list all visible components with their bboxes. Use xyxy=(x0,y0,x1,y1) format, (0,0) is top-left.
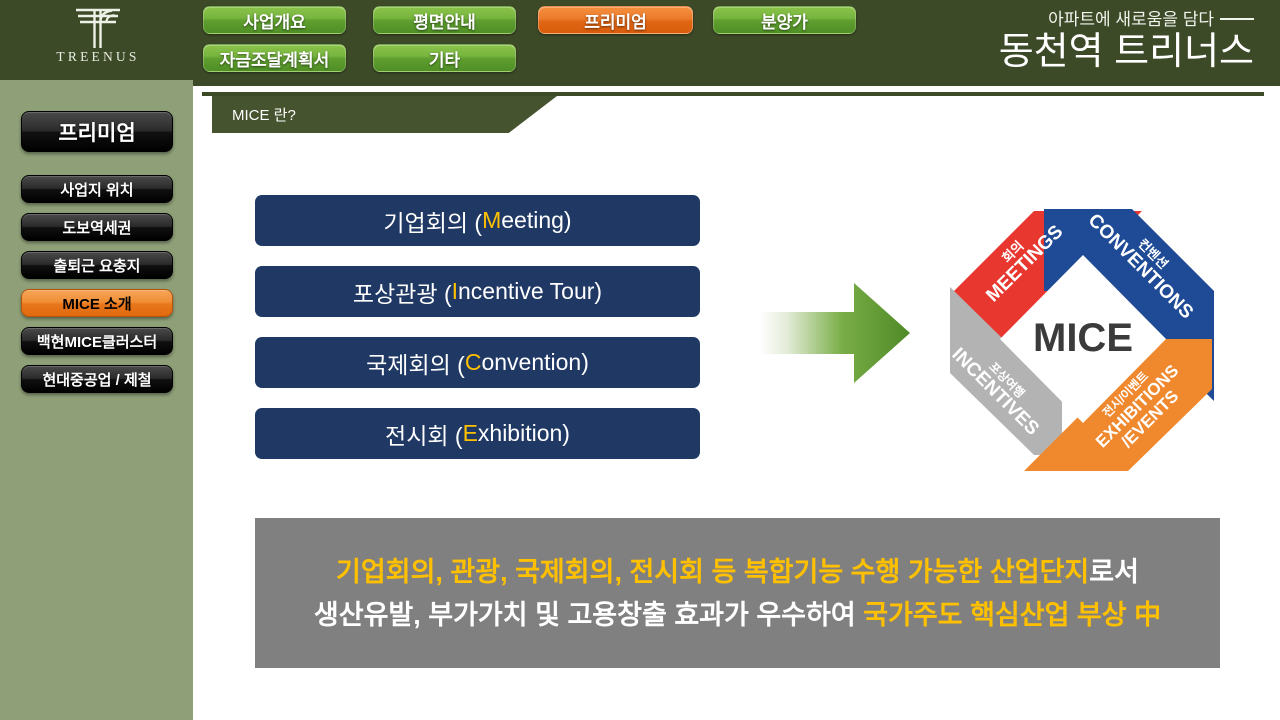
definition-box-meeting: 기업회의 (Meeting) xyxy=(255,195,700,246)
sidebar-item-baekhyeon-mice-cluster[interactable]: 백현MICE클러스터 xyxy=(21,327,173,355)
definition-korean: 국제회의 ( xyxy=(366,346,465,380)
nav-button-premium[interactable]: 프리미엄 xyxy=(538,6,693,34)
summary-line-1-white: 로서 xyxy=(1089,557,1139,587)
diagram-center-label: MICE xyxy=(1033,316,1133,360)
presentation-slide: TREENUS 사업개요 평면안내 프리미엄 분양가 자금조달계획서 기타 아파… xyxy=(0,0,1280,720)
definition-korean: 전시회 ( xyxy=(385,417,463,451)
sidebar-item-hyundai-heavy-steel[interactable]: 현대중공업 / 제철 xyxy=(21,365,173,393)
tagline-dash-icon xyxy=(1220,18,1254,20)
definition-highlight-letter: M xyxy=(482,207,501,234)
brand-tagline: 아파트에 새로움을 담다 xyxy=(999,5,1254,30)
summary-line-2-gold: 국가주도 핵심산업 부상 中 xyxy=(863,600,1161,630)
treenus-tree-logo-icon xyxy=(69,6,127,50)
content-second-rule xyxy=(202,92,1264,96)
sidebar-item-site-location[interactable]: 사업지 위치 xyxy=(21,175,173,203)
brand-title: 동천역 트리너스 xyxy=(999,31,1254,73)
definition-rest: onvention) xyxy=(481,349,588,376)
left-sidebar: 프리미엄 사업지 위치 도보역세권 출퇴근 요충지 MICE 소개 백현MICE… xyxy=(0,80,193,720)
nav-button-etc[interactable]: 기타 xyxy=(373,44,516,72)
sidebar-item-walking-station-area[interactable]: 도보역세권 xyxy=(21,213,173,241)
definition-box-exhibition: 전시회 (Exhibition) xyxy=(255,408,700,459)
nav-button-business-overview[interactable]: 사업개요 xyxy=(203,6,346,34)
top-header-bar: TREENUS 사업개요 평면안내 프리미엄 분양가 자금조달계획서 기타 아파… xyxy=(0,0,1280,80)
summary-line-2-white: 생산유발, 부가가치 및 고용창출 효과가 우수하여 xyxy=(314,600,863,630)
definition-korean: 기업회의 ( xyxy=(383,204,482,238)
nav-button-floor-plan[interactable]: 평면안내 xyxy=(373,6,516,34)
definition-rest: eeting) xyxy=(501,207,571,234)
definition-box-convention: 국제회의 (Convention) xyxy=(255,337,700,388)
content-top-rule xyxy=(193,80,1280,86)
definition-rest: xhibition) xyxy=(478,420,570,447)
mice-octagon-diagram: 회의 MEETINGS 컨벤션 CONVENTIONS 포상여행 INCENTI… xyxy=(938,193,1228,478)
definition-rest: ncentive Tour) xyxy=(458,278,602,305)
definition-box-incentive-tour: 포상관광 (Incentive Tour) xyxy=(255,266,700,317)
sidebar-item-commute-hub[interactable]: 출퇴근 요충지 xyxy=(21,251,173,279)
summary-line-1: 기업회의, 관광, 국제회의, 전시회 등 복합기능 수행 가능한 산업단지로서 xyxy=(336,553,1139,591)
summary-line-1-gold: 기업회의, 관광, 국제회의, 전시회 등 복합기능 수행 가능한 산업단지 xyxy=(336,557,1089,587)
logo-wordmark: TREENUS xyxy=(56,49,139,65)
content-title-tab: MICE 란? xyxy=(212,96,557,133)
main-content-area: MICE 란? 기업회의 (Meeting) 포상관광 (Incentive T… xyxy=(193,80,1280,720)
nav-button-price[interactable]: 분양가 xyxy=(713,6,856,34)
nav-button-funding-plan[interactable]: 자금조달계획서 xyxy=(203,44,346,72)
sidebar-item-mice-intro[interactable]: MICE 소개 xyxy=(21,289,173,317)
definition-highlight-letter: E xyxy=(463,420,478,447)
brand-logo[interactable]: TREENUS xyxy=(44,6,152,74)
brand-title-block: 아파트에 새로움을 담다 동천역 트리너스 xyxy=(999,5,1254,73)
sidebar-section-title: 프리미엄 xyxy=(21,111,173,152)
brand-tagline-text: 아파트에 새로움을 담다 xyxy=(1048,10,1214,29)
right-arrow-icon xyxy=(758,278,913,388)
definition-highlight-letter: C xyxy=(465,349,482,376)
summary-callout-box: 기업회의, 관광, 국제회의, 전시회 등 복합기능 수행 가능한 산업단지로서… xyxy=(255,518,1220,668)
definition-korean: 포상관광 ( xyxy=(353,275,452,309)
summary-line-2: 생산유발, 부가가치 및 고용창출 효과가 우수하여 국가주도 핵심산업 부상 … xyxy=(314,596,1161,634)
